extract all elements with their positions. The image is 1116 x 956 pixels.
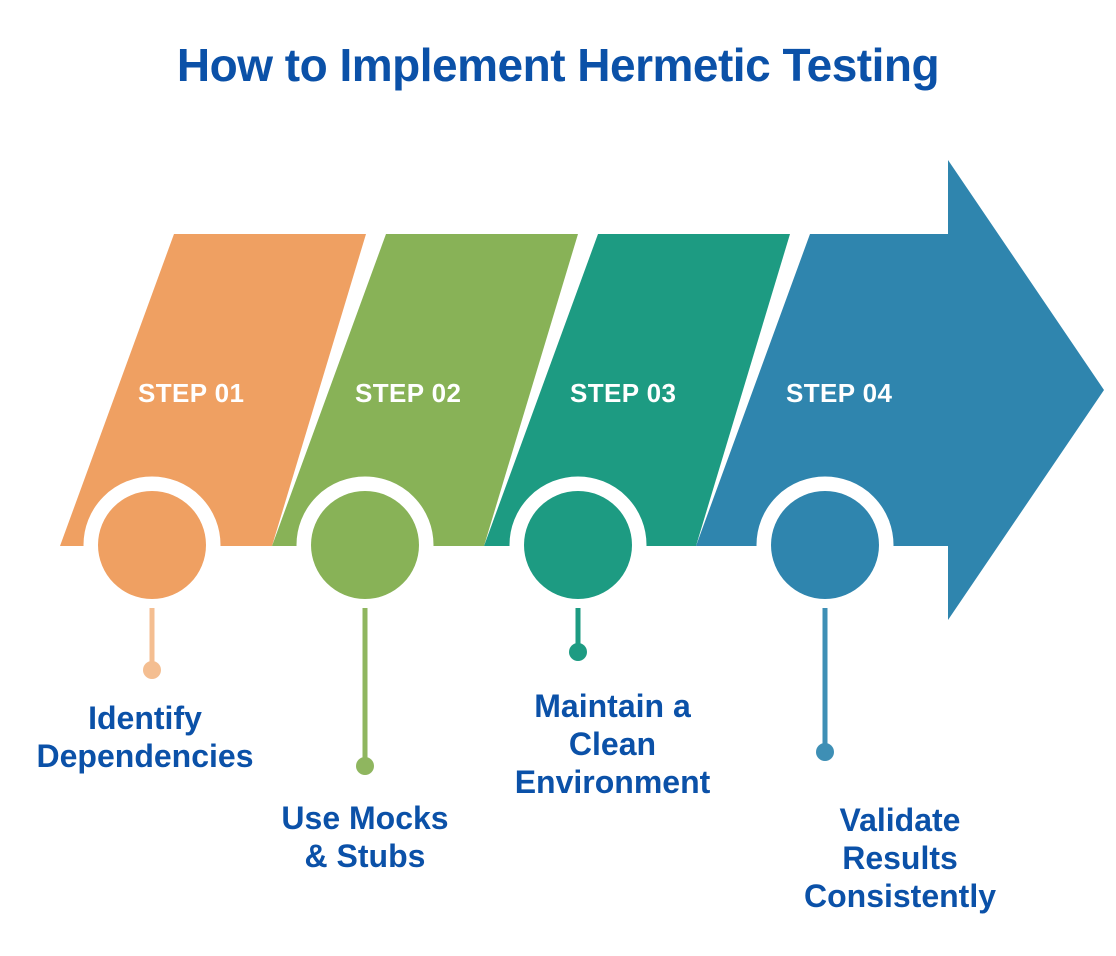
step-marker-circle-3[interactable] xyxy=(524,491,632,599)
step-connector-dot-3 xyxy=(569,643,587,661)
step-caption-4: Validate Results Consistently xyxy=(740,802,1060,915)
step-caption-1: Identify Dependencies xyxy=(0,700,290,776)
step-marker-circle-1[interactable] xyxy=(98,491,206,599)
step-caption-3: Maintain a Clean Environment xyxy=(460,688,765,801)
step-connector-dot-1 xyxy=(143,661,161,679)
step-marker-circle-4[interactable] xyxy=(771,491,879,599)
step-marker-circle-2[interactable] xyxy=(311,491,419,599)
infographic-canvas: How to Implement Hermetic Testing STEP xyxy=(0,0,1116,956)
step-connector-dot-4 xyxy=(816,743,834,761)
step-caption-2: Use Mocks & Stubs xyxy=(215,800,515,876)
step-connector-dot-2 xyxy=(356,757,374,775)
